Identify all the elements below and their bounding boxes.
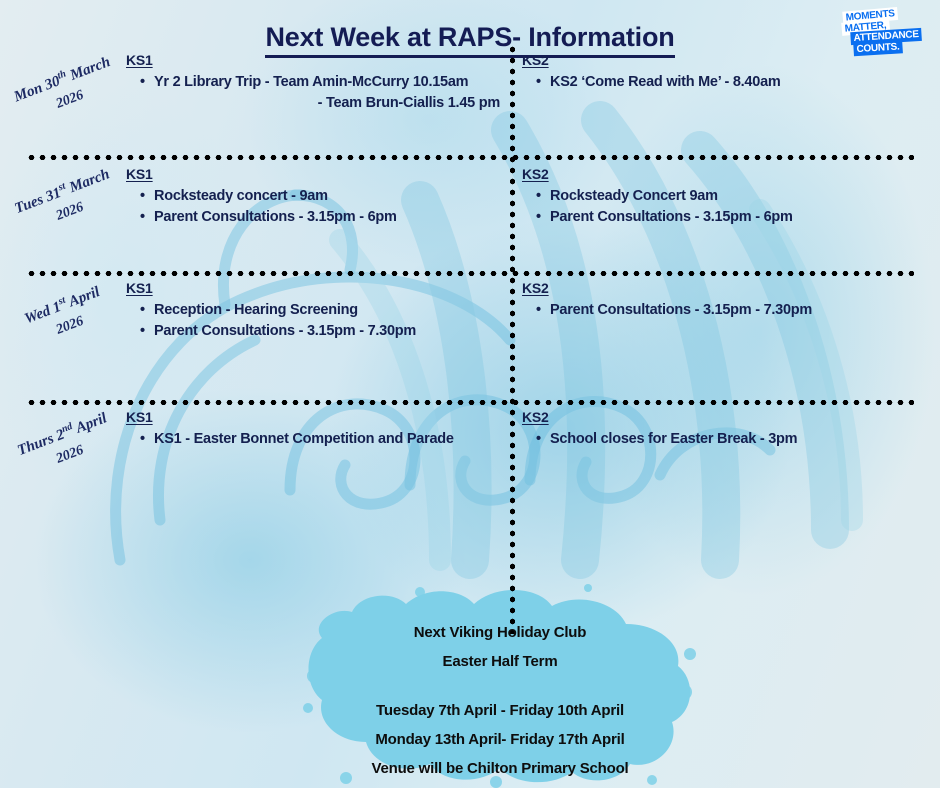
event-list: School closes for Easter Break - 3pm xyxy=(522,429,922,450)
day-row: Thurs 2nd April2026KS1KS1 - Easter Bonne… xyxy=(0,409,940,524)
event-item: Reception - Hearing Screening xyxy=(126,300,504,321)
day-column-ks2: KS2Parent Consultations - 3.15pm - 7.30p… xyxy=(522,280,922,321)
holiday-line-venue: Venue will be Chilton Primary School xyxy=(300,754,700,783)
key-stage-heading: KS2 xyxy=(522,52,922,68)
event-item: KS2 ‘Come Read with Me’ - 8.40am xyxy=(522,72,922,93)
day-row: Tues 31st March2026KS1Rocksteady concert… xyxy=(0,166,940,266)
key-stage-heading: KS2 xyxy=(522,166,922,182)
day-label: Thurs 2nd April2026 xyxy=(0,401,133,487)
day-column-ks2: KS2KS2 ‘Come Read with Me’ - 8.40am xyxy=(522,52,922,93)
event-item: Parent Consultations - 3.15pm - 7.30pm xyxy=(126,321,504,342)
poster-canvas: Next Week at RAPS- Information MOMENTS M… xyxy=(0,0,940,788)
key-stage-heading: KS1 xyxy=(126,280,504,296)
day-row: Wed 1st April2026KS1Reception - Hearing … xyxy=(0,280,940,395)
event-item: KS1 - Easter Bonnet Competition and Para… xyxy=(126,429,504,450)
event-item: School closes for Easter Break - 3pm xyxy=(522,429,922,450)
event-list: KS2 ‘Come Read with Me’ - 8.40am xyxy=(522,72,922,93)
holiday-club-block: Next Viking Holiday Club Easter Half Ter… xyxy=(300,618,700,783)
key-stage-heading: KS2 xyxy=(522,280,922,296)
day-column-ks1: KS1Yr 2 Library Trip - Team Amin-McCurry… xyxy=(126,52,504,114)
event-list: Rocksteady Concert 9amParent Consultatio… xyxy=(522,186,922,228)
day-label: Mon 30th March2026 xyxy=(0,46,133,132)
key-stage-heading: KS1 xyxy=(126,409,504,425)
day-column-ks2: KS2School closes for Easter Break - 3pm xyxy=(522,409,922,450)
event-item: Rocksteady concert - 9am xyxy=(126,186,504,207)
divider-row-2 xyxy=(26,271,914,276)
divider-row-1 xyxy=(26,155,914,160)
holiday-line-dates-1: Tuesday 7th April - Friday 10th April xyxy=(300,696,700,725)
day-column-ks1: KS1Rocksteady concert - 9amParent Consul… xyxy=(126,166,504,228)
holiday-line-title: Next Viking Holiday Club xyxy=(300,618,700,647)
day-column-ks2: KS2Rocksteady Concert 9amParent Consulta… xyxy=(522,166,922,228)
day-label: Tues 31st March2026 xyxy=(0,158,133,244)
holiday-line-dates-2: Monday 13th April- Friday 17th April xyxy=(300,725,700,754)
event-list: Rocksteady concert - 9amParent Consultat… xyxy=(126,186,504,228)
day-column-ks1: KS1KS1 - Easter Bonnet Competition and P… xyxy=(126,409,504,450)
event-item: Rocksteady Concert 9am xyxy=(522,186,922,207)
event-item: Parent Consultations - 3.15pm - 6pm xyxy=(522,207,922,228)
attendance-logo-badge: MOMENTS MATTER, ATTENDANCE COUNTS. xyxy=(840,4,932,56)
event-list: Parent Consultations - 3.15pm - 7.30pm xyxy=(522,300,922,321)
day-column-ks1: KS1Reception - Hearing ScreeningParent C… xyxy=(126,280,504,342)
event-item: Parent Consultations - 3.15pm - 7.30pm xyxy=(522,300,922,321)
holiday-line-term: Easter Half Term xyxy=(300,647,700,676)
key-stage-heading: KS1 xyxy=(126,166,504,182)
key-stage-heading: KS1 xyxy=(126,52,504,68)
holiday-spacer xyxy=(300,676,700,696)
divider-row-3 xyxy=(26,400,914,405)
key-stage-heading: KS2 xyxy=(522,409,922,425)
day-row: Mon 30th March2026KS1Yr 2 Library Trip -… xyxy=(0,52,940,152)
event-item: Yr 2 Library Trip - Team Amin-McCurry 10… xyxy=(126,72,504,93)
event-item: - Team Brun-Ciallis 1.45 pm xyxy=(126,93,504,114)
event-list: Reception - Hearing ScreeningParent Cons… xyxy=(126,300,504,342)
day-label: Wed 1st April2026 xyxy=(0,272,133,358)
event-list: KS1 - Easter Bonnet Competition and Para… xyxy=(126,429,504,450)
event-item: Parent Consultations - 3.15pm - 6pm xyxy=(126,207,504,228)
event-list: Yr 2 Library Trip - Team Amin-McCurry 10… xyxy=(126,72,504,114)
